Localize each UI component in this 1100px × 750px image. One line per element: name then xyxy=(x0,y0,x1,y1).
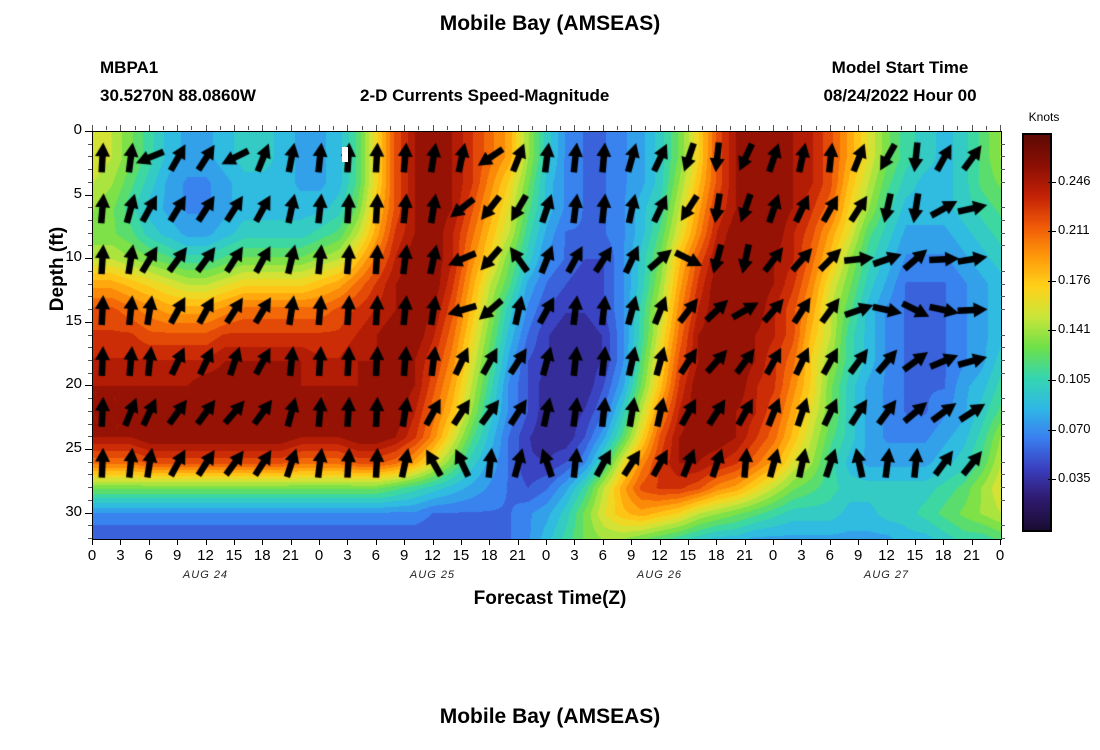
colorbar-tick-label: 0.105 xyxy=(1058,371,1091,386)
colorbar-tick-mark xyxy=(1048,330,1056,331)
colorbar-tick-label: 0.246 xyxy=(1058,173,1091,188)
footer-title: Mobile Bay (AMSEAS) xyxy=(0,705,1100,729)
colorbar-tick-mark xyxy=(1048,231,1056,232)
colorbar-tick-mark xyxy=(1048,430,1056,431)
colorbar-tick-label: 0.211 xyxy=(1058,222,1090,237)
colorbar-tick-mark xyxy=(1048,380,1056,381)
chart-page: Mobile Bay (AMSEAS) MBPA1 30.5270N 88.08… xyxy=(0,0,1100,750)
colorbar-tick-label: 0.070 xyxy=(1058,421,1091,436)
colorbar-ticks: 0.0350.0700.1050.1410.1760.2110.246 xyxy=(0,0,1100,750)
colorbar-tick-mark xyxy=(1048,182,1056,183)
colorbar-tick-label: 0.176 xyxy=(1058,272,1091,287)
colorbar-tick-mark xyxy=(1048,281,1056,282)
colorbar-tick-mark xyxy=(1048,479,1056,480)
colorbar-tick-label: 0.035 xyxy=(1058,470,1091,485)
colorbar-tick-label: 0.141 xyxy=(1058,321,1091,336)
